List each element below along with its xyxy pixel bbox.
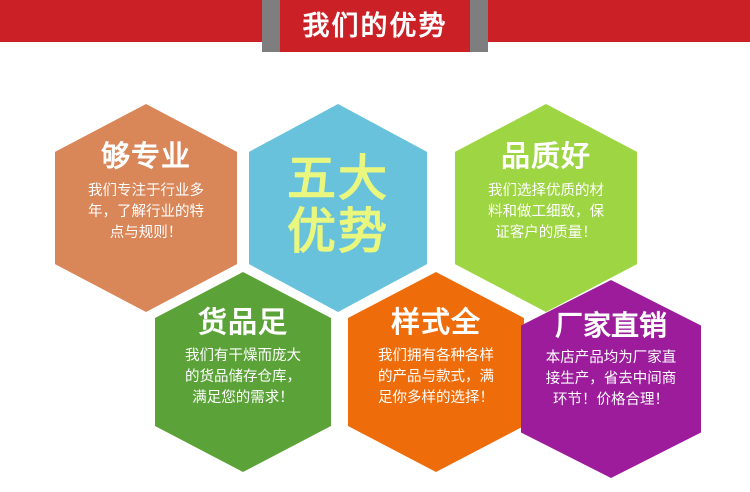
advantage-description: 我们专注于行业多年，了解行业的特点与规则！	[84, 181, 208, 244]
page-title: 我们的优势	[303, 13, 448, 40]
advantages-banner: 我们的优势	[0, 0, 750, 56]
advantage-hexagon-center-five-advantages: 五大 优势	[249, 104, 427, 312]
advantage-heading: 够专业	[101, 142, 191, 171]
ribbon-left-fold	[262, 0, 280, 52]
advantage-hexagon-professional: 够专业 我们专注于行业多年，了解行业的特点与规则！	[55, 104, 237, 312]
ribbon-left-wing	[0, 0, 264, 42]
center-heading-line1: 五大	[287, 153, 389, 206]
advantage-hexagon-styles: 样式全 我们拥有各种各样的产品与款式，满足你多样的选择！	[348, 272, 524, 472]
advantage-description: 我们拥有各种各样的产品与款式，满足你多样的选择！	[372, 346, 500, 409]
ribbon-center-block: 我们的优势	[280, 0, 470, 52]
center-heading-line2: 优势	[287, 206, 389, 259]
ribbon-right-fold	[470, 0, 488, 52]
advantage-description: 我们有干燥而庞大的货品储存仓库，满足您的需求！	[179, 346, 307, 409]
advantage-description: 我们选择优质的材料和做工细致，保证客户的质量！	[481, 181, 611, 244]
ribbon-right-wing	[488, 0, 750, 42]
advantage-hexagon-stock: 货品足 我们有干燥而庞大的货品储存仓库，满足您的需求！	[155, 272, 331, 472]
advantage-heading: 品质好	[501, 142, 591, 171]
advantage-heading: 厂家直销	[555, 312, 667, 340]
advantage-heading: 货品足	[198, 308, 288, 337]
advantage-description: 本店产品均为厂家直接生产，省去中间商环节！价格合理！	[543, 348, 679, 411]
advantage-heading: 样式全	[391, 308, 481, 337]
